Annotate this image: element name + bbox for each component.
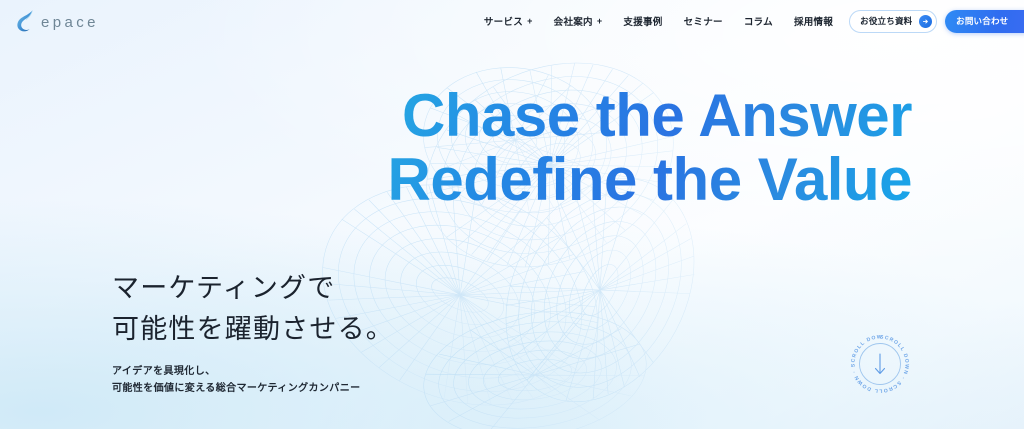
header-actions: お役立ち資料 お問い合わせ bbox=[849, 10, 1024, 33]
plus-icon: + bbox=[527, 17, 533, 26]
water-drop-e-icon bbox=[11, 6, 41, 36]
nav-item-case-studies[interactable]: 支援事例 bbox=[623, 14, 662, 28]
nav-item-company[interactable]: 会社案内 + bbox=[554, 14, 603, 28]
nav-item-seminar[interactable]: セミナー bbox=[684, 14, 723, 28]
button-label: お役立ち資料 bbox=[860, 15, 912, 27]
nav-label: コラム bbox=[744, 14, 773, 28]
hero-sub-line-1: アイデアを具現化し、 bbox=[112, 366, 216, 377]
scroll-down-indicator[interactable]: SCROLL DOWN · SCROLL DOWN · SCROLL DOWN … bbox=[849, 333, 911, 395]
contact-button[interactable]: お問い合わせ bbox=[945, 10, 1024, 33]
hero-headline-jp: マーケティングで 可能性を躍動させる。 bbox=[112, 268, 394, 350]
nav-label: 採用情報 bbox=[794, 14, 833, 28]
useful-materials-button[interactable]: お役立ち資料 bbox=[849, 10, 937, 33]
nav-item-services[interactable]: サービス + bbox=[484, 14, 533, 28]
hero-sub-line-2: 可能性を価値に変える総合マーケティングカンパニー bbox=[112, 383, 361, 394]
hero-headline-en: Chase the Answer Redefine the Value bbox=[388, 84, 913, 212]
nav-label: セミナー bbox=[684, 14, 723, 28]
nav-label: 会社案内 bbox=[554, 14, 593, 28]
nav-label: 支援事例 bbox=[623, 14, 662, 28]
plus-icon: + bbox=[597, 17, 603, 26]
arrow-right-circle-icon bbox=[919, 15, 932, 28]
hero-page: epace サービス + 会社案内 + 支援事例 セミナー コラム 採用情報 bbox=[0, 0, 1024, 429]
nav-item-column[interactable]: コラム bbox=[744, 14, 773, 28]
headline-line-1: Chase the Answer bbox=[402, 82, 912, 149]
nav-item-recruit[interactable]: 採用情報 bbox=[794, 14, 833, 28]
nav-label: サービス bbox=[484, 14, 523, 28]
site-header: epace サービス + 会社案内 + 支援事例 セミナー コラム 採用情報 bbox=[0, 0, 1024, 42]
brand-name: epace bbox=[41, 14, 99, 31]
headline-line-2: Redefine the Value bbox=[388, 148, 913, 212]
brand-logo[interactable]: epace bbox=[11, 6, 99, 36]
hero-headline-jp-block: マーケティングで 可能性を躍動させる。 アイデアを具現化し、 可能性を価値に変え… bbox=[112, 268, 394, 397]
main-nav: サービス + 会社案内 + 支援事例 セミナー コラム 採用情報 bbox=[484, 14, 833, 28]
hero-jp-line-1: マーケティングで bbox=[112, 273, 335, 303]
arrow-down-icon bbox=[876, 354, 885, 374]
button-label: お問い合わせ bbox=[956, 15, 1008, 27]
hero-jp-line-2: 可能性を躍動させる。 bbox=[112, 314, 394, 344]
hero-subtext: アイデアを具現化し、 可能性を価値に変える総合マーケティングカンパニー bbox=[112, 363, 394, 397]
